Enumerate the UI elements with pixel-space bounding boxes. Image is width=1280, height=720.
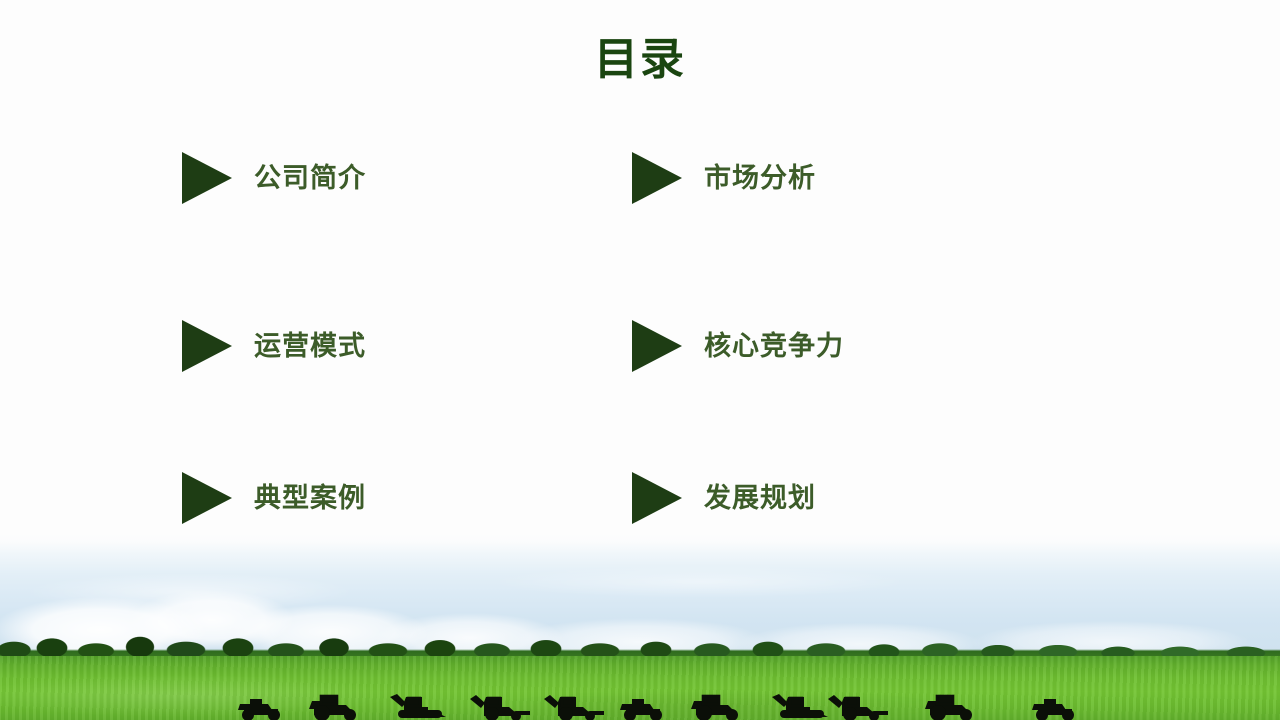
triangle-right-icon bbox=[632, 472, 682, 524]
toc-item-label: 运营模式 bbox=[254, 318, 366, 374]
tractor-icon bbox=[688, 693, 746, 720]
backhoe-loader-icon bbox=[824, 693, 890, 720]
road-roller-icon bbox=[1028, 695, 1086, 720]
backhoe-loader-icon bbox=[466, 693, 532, 720]
toc-item-1[interactable]: 公司简介 bbox=[182, 150, 632, 206]
toc-item-3[interactable]: 运营模式 bbox=[182, 318, 632, 374]
toc-item-label: 市场分析 bbox=[704, 150, 816, 206]
tractor-icon bbox=[306, 693, 364, 720]
road-roller-icon bbox=[616, 695, 674, 720]
toc-item-6[interactable]: 发展规划 bbox=[632, 470, 1082, 526]
tractor-icon bbox=[922, 693, 980, 720]
excavator-icon bbox=[384, 693, 452, 720]
toc-item-2[interactable]: 市场分析 bbox=[632, 150, 1082, 206]
toc-item-5[interactable]: 典型案例 bbox=[182, 470, 632, 526]
toc-item-4[interactable]: 核心竞争力 bbox=[632, 318, 1082, 374]
triangle-right-icon bbox=[632, 152, 682, 204]
backhoe-loader-icon bbox=[540, 693, 606, 720]
vehicle-silhouette-strip bbox=[0, 686, 1280, 720]
triangle-right-icon bbox=[632, 320, 682, 372]
slide-canvas: 目录 公司简介 市场分析 运营模式 核心竞争力 典型案例 发展规划 bbox=[0, 0, 1280, 720]
toc-item-label: 核心竞争力 bbox=[704, 318, 844, 374]
toc-item-label: 发展规划 bbox=[704, 470, 816, 526]
farmland-landscape-photo bbox=[0, 534, 1280, 720]
table-of-contents: 公司简介 市场分析 运营模式 核心竞争力 典型案例 发展规划 bbox=[182, 150, 1102, 526]
triangle-right-icon bbox=[182, 152, 232, 204]
triangle-right-icon bbox=[182, 320, 232, 372]
triangle-right-icon bbox=[182, 472, 232, 524]
toc-item-label: 典型案例 bbox=[254, 470, 366, 526]
toc-item-label: 公司简介 bbox=[254, 150, 366, 206]
page-title: 目录 bbox=[0, 36, 1280, 84]
road-roller-icon bbox=[234, 695, 292, 720]
